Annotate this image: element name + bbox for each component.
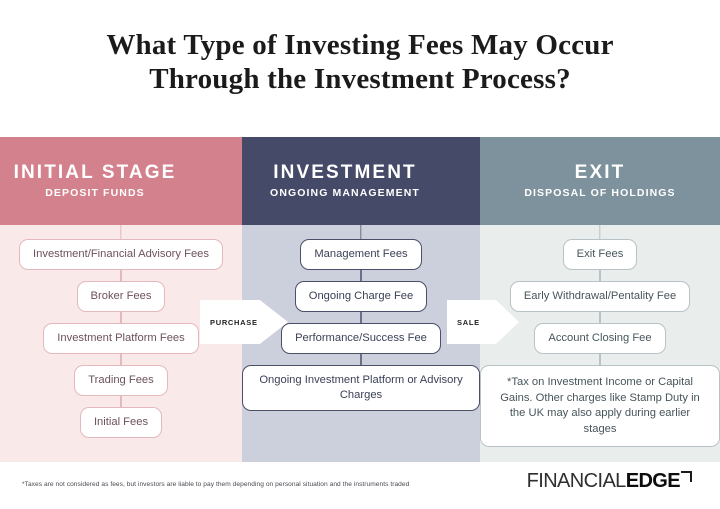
- fee-node[interactable]: Exit Fees: [563, 239, 638, 270]
- fee-node[interactable]: Management Fees: [300, 239, 421, 270]
- connector-line: [360, 270, 361, 281]
- stage-subheading: DEPOSIT FUNDS: [45, 186, 144, 200]
- fee-node[interactable]: Performance/Success Fee: [281, 323, 441, 354]
- stage-column-exit: EXIT DISPOSAL OF HOLDINGS Exit Fees Earl…: [480, 137, 720, 462]
- stage-heading: EXIT: [575, 162, 626, 184]
- connector-line: [360, 354, 361, 365]
- stage-heading: INVESTMENT: [273, 162, 416, 184]
- title-line-2: Through the Investment Process?: [0, 62, 720, 96]
- fee-node[interactable]: Initial Fees: [80, 407, 162, 438]
- connector-line: [120, 312, 121, 323]
- fee-node[interactable]: Ongoing Charge Fee: [295, 281, 427, 312]
- sale-arrow-label: SALE: [447, 318, 480, 327]
- stage-subheading: DISPOSAL OF HOLDINGS: [524, 186, 675, 200]
- connector-line: [120, 270, 121, 281]
- fee-node[interactable]: Broker Fees: [77, 281, 166, 312]
- stage-header-investment: INVESTMENT ONGOING MANAGEMENT: [242, 137, 480, 225]
- fee-node[interactable]: Investment/Financial Advisory Fees: [19, 239, 223, 270]
- logo-text-edge: EDGE: [626, 470, 680, 493]
- fee-node[interactable]: Ongoing Investment Platform or Advisory …: [242, 365, 480, 411]
- stage-heading: INITIAL STAGE: [14, 162, 177, 184]
- infographic-page: What Type of Investing Fees May Occur Th…: [0, 0, 720, 509]
- tax-note-node[interactable]: *Tax on Investment Income or Capital Gai…: [480, 365, 720, 447]
- connector-line: [599, 312, 600, 323]
- fee-node[interactable]: Investment Platform Fees: [43, 323, 198, 354]
- stage-subheading: ONGOING MANAGEMENT: [270, 186, 420, 200]
- page-title: What Type of Investing Fees May Occur Th…: [0, 28, 720, 96]
- stage-column-initial: INITIAL STAGE DEPOSIT FUNDS Investment/F…: [0, 137, 242, 462]
- connector-line: [360, 312, 361, 323]
- purchase-arrow-label: PURCHASE: [200, 318, 258, 327]
- connector-line: [599, 270, 600, 281]
- connector-line: [120, 396, 121, 407]
- fee-flow-exit: Exit Fees Early Withdrawal/Pentality Fee…: [480, 225, 720, 447]
- stage-header-initial: INITIAL STAGE DEPOSIT FUNDS: [0, 137, 242, 225]
- stage-header-exit: EXIT DISPOSAL OF HOLDINGS: [480, 137, 720, 225]
- footnote-text: *Taxes are not considered as fees, but i…: [22, 481, 409, 488]
- fee-node[interactable]: Trading Fees: [74, 365, 168, 396]
- logo-text-financial: FINANCIAL: [527, 470, 626, 493]
- financial-edge-logo: FINANCIAL EDGE: [527, 470, 692, 492]
- connector-line: [599, 354, 600, 365]
- connector-line: [120, 354, 121, 365]
- connector-stub: [360, 225, 361, 239]
- connector-stub: [599, 225, 600, 239]
- fee-node[interactable]: Account Closing Fee: [534, 323, 665, 354]
- connector-stub: [120, 225, 121, 239]
- title-line-1: What Type of Investing Fees May Occur: [0, 28, 720, 62]
- logo-flag-icon: [681, 471, 692, 482]
- stage-board: INITIAL STAGE DEPOSIT FUNDS Investment/F…: [0, 137, 720, 462]
- fee-node[interactable]: Early Withdrawal/Pentality Fee: [510, 281, 690, 312]
- stage-column-investment: INVESTMENT ONGOING MANAGEMENT Management…: [242, 137, 480, 462]
